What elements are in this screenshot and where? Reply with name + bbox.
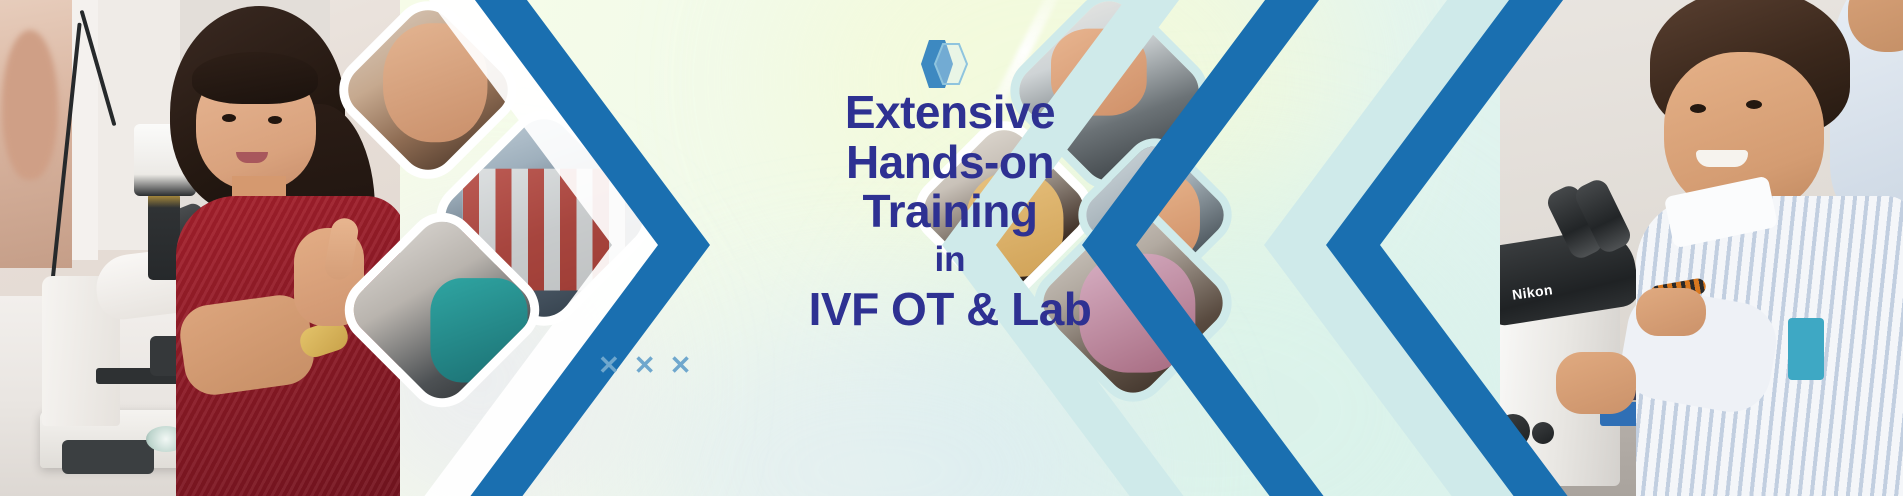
left-photo-wall-poster (0, 0, 72, 268)
left-photo-person-fringe (192, 52, 318, 104)
photo-left-woman-thumbs-up-microscope (0, 0, 400, 496)
right-photo-person-eye-right (1746, 100, 1762, 109)
headline-line-1: Extensive (640, 88, 1260, 138)
right-photo-person-eye-left (1690, 104, 1706, 113)
headline-line-3: Training (640, 187, 1260, 237)
right-photo-person-smile (1696, 150, 1748, 167)
headline-line-4: in (640, 237, 1260, 283)
left-photo-person-eye-left (222, 114, 236, 122)
headline-line-2: Hands-on (640, 138, 1260, 188)
headline-line-5: IVF OT & Lab (640, 283, 1260, 335)
x-marks-ornament: ✕ ✕ ✕ (598, 352, 693, 378)
right-photo-person-hand-upper (1636, 288, 1706, 336)
left-photo-microscope-foot (62, 440, 154, 474)
headline: Extensive Hands-on Training in IVF OT & … (640, 88, 1260, 335)
x-mark-icon-2: ✕ (634, 352, 658, 378)
left-photo-person-eye-right (268, 116, 282, 124)
chevron-far-right-blue (1286, 0, 1586, 496)
x-mark-icon-1: ✕ (598, 352, 622, 378)
hexagon-logo (913, 38, 971, 90)
right-photo-person-id-badge (1788, 318, 1824, 380)
x-mark-icon-3: ✕ (670, 352, 694, 378)
hexagon-outline-icon (935, 44, 967, 84)
training-banner: Nikon (0, 0, 1903, 496)
